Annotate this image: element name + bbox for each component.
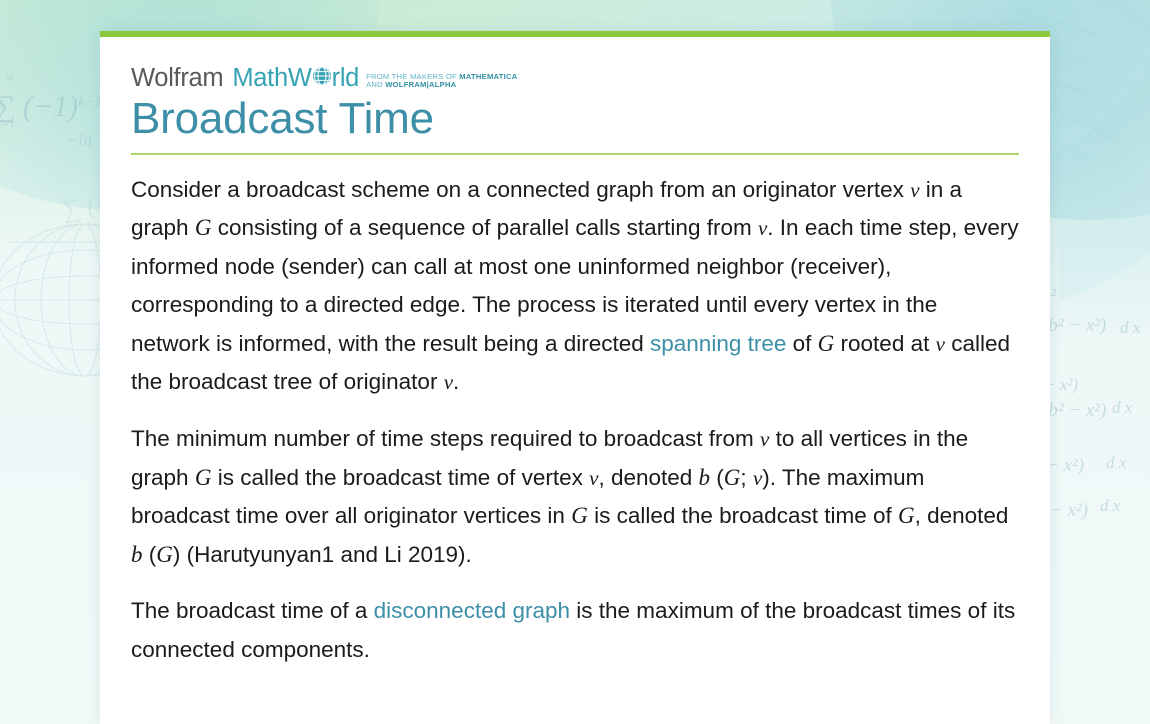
background-formula-right-5: (b² − x²) <box>1042 400 1106 422</box>
paragraph-p3: The broadcast time of a disconnected gra… <box>131 592 1019 669</box>
page-title: Broadcast Time <box>131 95 1019 143</box>
math-variable-v: v <box>910 178 919 202</box>
logo-wolfram-text: Wolfram <box>131 66 223 92</box>
globe-icon <box>312 66 332 91</box>
math-variable-v: v <box>760 427 769 451</box>
tagline-mathematica: MATHEMATICA <box>459 72 517 81</box>
text-run: ( <box>710 465 724 490</box>
mathworld-logo[interactable]: Wolfram MathW rld FROM THE MAKERS OF MAT… <box>131 61 1019 91</box>
link-spanning-tree[interactable]: spanning tree <box>650 331 786 356</box>
article-card: Wolfram MathW rld FROM THE MAKERS OF MAT… <box>100 31 1050 724</box>
background-formula-right-7: − x²) <box>1046 455 1084 477</box>
math-variable-G: G <box>818 331 835 356</box>
text-run: rooted at <box>834 331 935 356</box>
text-run: ( <box>143 542 157 567</box>
background-formula-right-3: d x <box>1120 318 1140 338</box>
tagline-line2-plain: AND <box>366 80 385 89</box>
background-formula-right-10: d x <box>1100 496 1120 516</box>
math-variable-G: G <box>156 542 173 567</box>
math-variable-v: v <box>758 216 767 240</box>
background-formula-right-2: (b² − x²) <box>1042 315 1106 337</box>
background-formula-right-6: d x <box>1112 398 1132 418</box>
text-run: , denoted <box>915 503 1009 528</box>
logo-tagline: FROM THE MAKERS OF MATHEMATICA AND WOLFR… <box>366 73 517 91</box>
text-run: , denoted <box>598 465 698 490</box>
background-formula-left-ln: −ln <box>66 130 92 151</box>
text-run: ; <box>740 465 753 490</box>
paragraph-p1: Consider a broadcast scheme on a connect… <box>131 171 1019 403</box>
math-variable-G: G <box>898 503 915 528</box>
math-variable-G: G <box>724 465 741 490</box>
text-run: is called the broadcast time of vertex <box>211 465 589 490</box>
logo-rld-text: rld <box>332 66 359 92</box>
text-run: consisting of a sequence of parallel cal… <box>211 215 758 240</box>
text-run: is called the broadcast time of <box>588 503 898 528</box>
text-run: of <box>786 331 817 356</box>
logo-mathw-text: MathW <box>232 66 311 92</box>
text-run: . <box>453 369 459 394</box>
text-run: Consider a broadcast scheme on a connect… <box>131 177 910 202</box>
text-run: The broadcast time of a <box>131 598 374 623</box>
math-variable-v: v <box>444 370 453 394</box>
background-formula-right-8: d x <box>1106 453 1126 473</box>
article-body: Consider a broadcast scheme on a connect… <box>131 171 1019 670</box>
math-variable-v: v <box>936 332 945 356</box>
math-variable-b: b <box>131 542 143 567</box>
math-variable-G: G <box>571 503 588 528</box>
link-disconnected-graph[interactable]: disconnected graph <box>374 598 570 623</box>
math-variable-v: v <box>753 466 762 490</box>
title-divider <box>131 153 1019 155</box>
math-variable-G: G <box>195 215 212 240</box>
background-formula-left: ∞ k=1 ∑ (−1)k−1 <box>0 90 101 124</box>
paragraph-p2: The minimum number of time steps require… <box>131 420 1019 574</box>
text-run: The minimum number of time steps require… <box>131 426 760 451</box>
tagline-wolframalpha: WOLFRAM|ALPHA <box>385 80 456 89</box>
math-variable-b: b <box>699 465 711 490</box>
background-cone-right-2 <box>1060 130 1150 310</box>
text-run: ) (Harutyunyan1 and Li 2019). <box>173 542 472 567</box>
background-formula-right-9: − x²) <box>1050 500 1088 522</box>
math-variable-G: G <box>195 465 212 490</box>
